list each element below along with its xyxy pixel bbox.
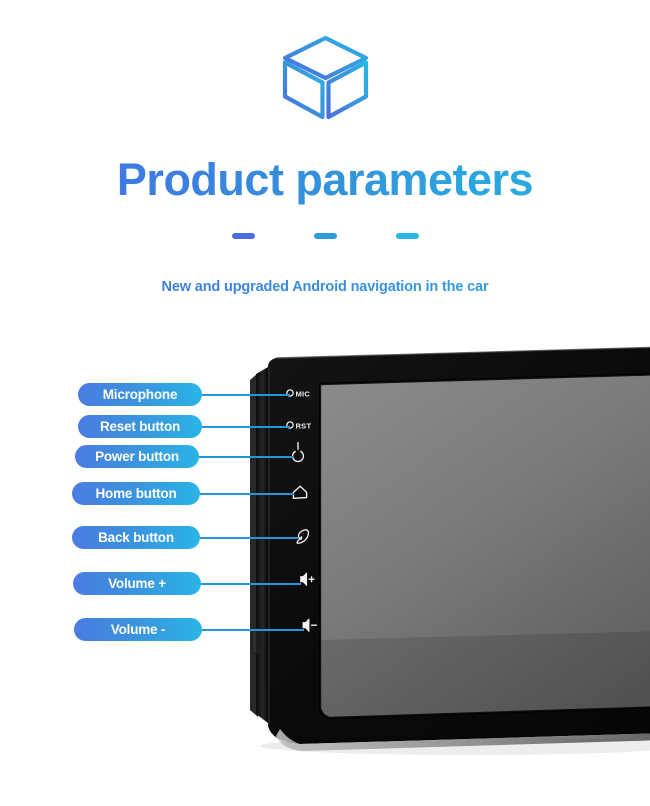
callout-volume-down: Volume - <box>0 618 650 641</box>
callout-pill-home-button[interactable]: Home button <box>72 482 200 505</box>
cube-icon <box>0 30 650 125</box>
callout-pill-volume-up[interactable]: Volume + <box>73 572 201 595</box>
callout-pill-microphone[interactable]: Microphone <box>78 383 202 406</box>
leader-line-power-button <box>199 456 293 458</box>
page-title: Product parameters <box>0 152 650 208</box>
callout-back-button: Back button <box>0 526 650 549</box>
callout-pill-volume-down[interactable]: Volume - <box>74 618 202 641</box>
page-subtitle: New and upgraded Android navigation in t… <box>0 279 650 295</box>
leader-line-volume-down <box>202 629 304 631</box>
callout-pill-power-button[interactable]: Power button <box>75 445 199 468</box>
callout-pill-back-button[interactable]: Back button <box>72 526 200 549</box>
callout-microphone: Microphone <box>0 383 650 406</box>
leader-line-volume-up <box>201 583 301 585</box>
leader-line-reset-button <box>202 426 290 428</box>
callout-pill-reset-button[interactable]: Reset button <box>78 415 202 438</box>
dash-cyan <box>396 233 419 239</box>
callout-reset-button: Reset button <box>0 415 650 438</box>
callout-home-button: Home button <box>0 482 650 505</box>
leader-line-home-button <box>200 493 294 495</box>
callout-volume-up: Volume + <box>0 572 650 595</box>
leader-line-back-button <box>200 537 298 539</box>
title-underline-dashes <box>0 233 650 239</box>
callout-power-button: Power button <box>0 445 650 468</box>
callout-layer: Microphone Reset button Power button Hom… <box>0 340 650 806</box>
leader-line-microphone <box>202 394 290 396</box>
dash-royal-blue <box>232 233 255 239</box>
dash-blue <box>314 233 337 239</box>
